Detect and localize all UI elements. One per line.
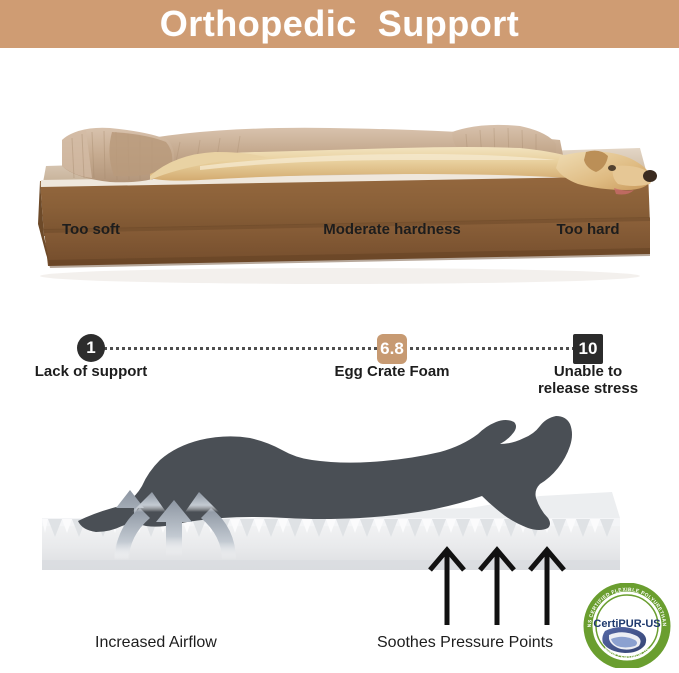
scale-stop-bottom-label-line2: release stress — [538, 380, 638, 397]
product-photo — [0, 48, 679, 290]
header-banner: Orthopedic Support — [0, 0, 679, 48]
certipur-center-text: CertiPUR-US — [593, 618, 660, 630]
scale-badge-10: 10 — [573, 334, 603, 364]
scale-stop-bottom-label-line1: Unable to — [554, 363, 622, 380]
scale-stop-top-label: Moderate hardness — [323, 221, 461, 238]
foam-cross-section-diagram — [0, 400, 679, 625]
caption-increased-airflow: Increased Airflow — [95, 634, 217, 652]
scale-stop-bottom-label: Lack of support — [35, 363, 148, 380]
scale-badge-1: 1 — [77, 334, 105, 362]
scale-stop-bottom-label: Unable to release stress — [538, 363, 638, 398]
scale-stop-top-label: Too soft — [62, 221, 120, 238]
foam-diagram-svg — [0, 400, 679, 625]
scale-stop-bottom-label: Egg Crate Foam — [334, 363, 449, 380]
page-title: Orthopedic Support — [160, 6, 519, 42]
infographic-page: Orthopedic Support — [0, 0, 679, 668]
hardness-scale: Too soft 1 Lack of support Moderate hard… — [0, 300, 679, 400]
dog-bed-photo-illustration — [0, 48, 679, 290]
caption-soothes-pressure-points: Soothes Pressure Points — [377, 634, 553, 652]
scale-badge-6-8: 6.8 — [377, 334, 407, 364]
certipur-us-badge: CONTAINS CERTIFIED FLEXIBLE POLYURETHANE… — [581, 583, 673, 668]
certipur-badge-svg: CONTAINS CERTIFIED FLEXIBLE POLYURETHANE… — [581, 583, 673, 668]
scale-stop-top-label: Too hard — [556, 221, 619, 238]
scale-dotted-line — [98, 347, 583, 350]
